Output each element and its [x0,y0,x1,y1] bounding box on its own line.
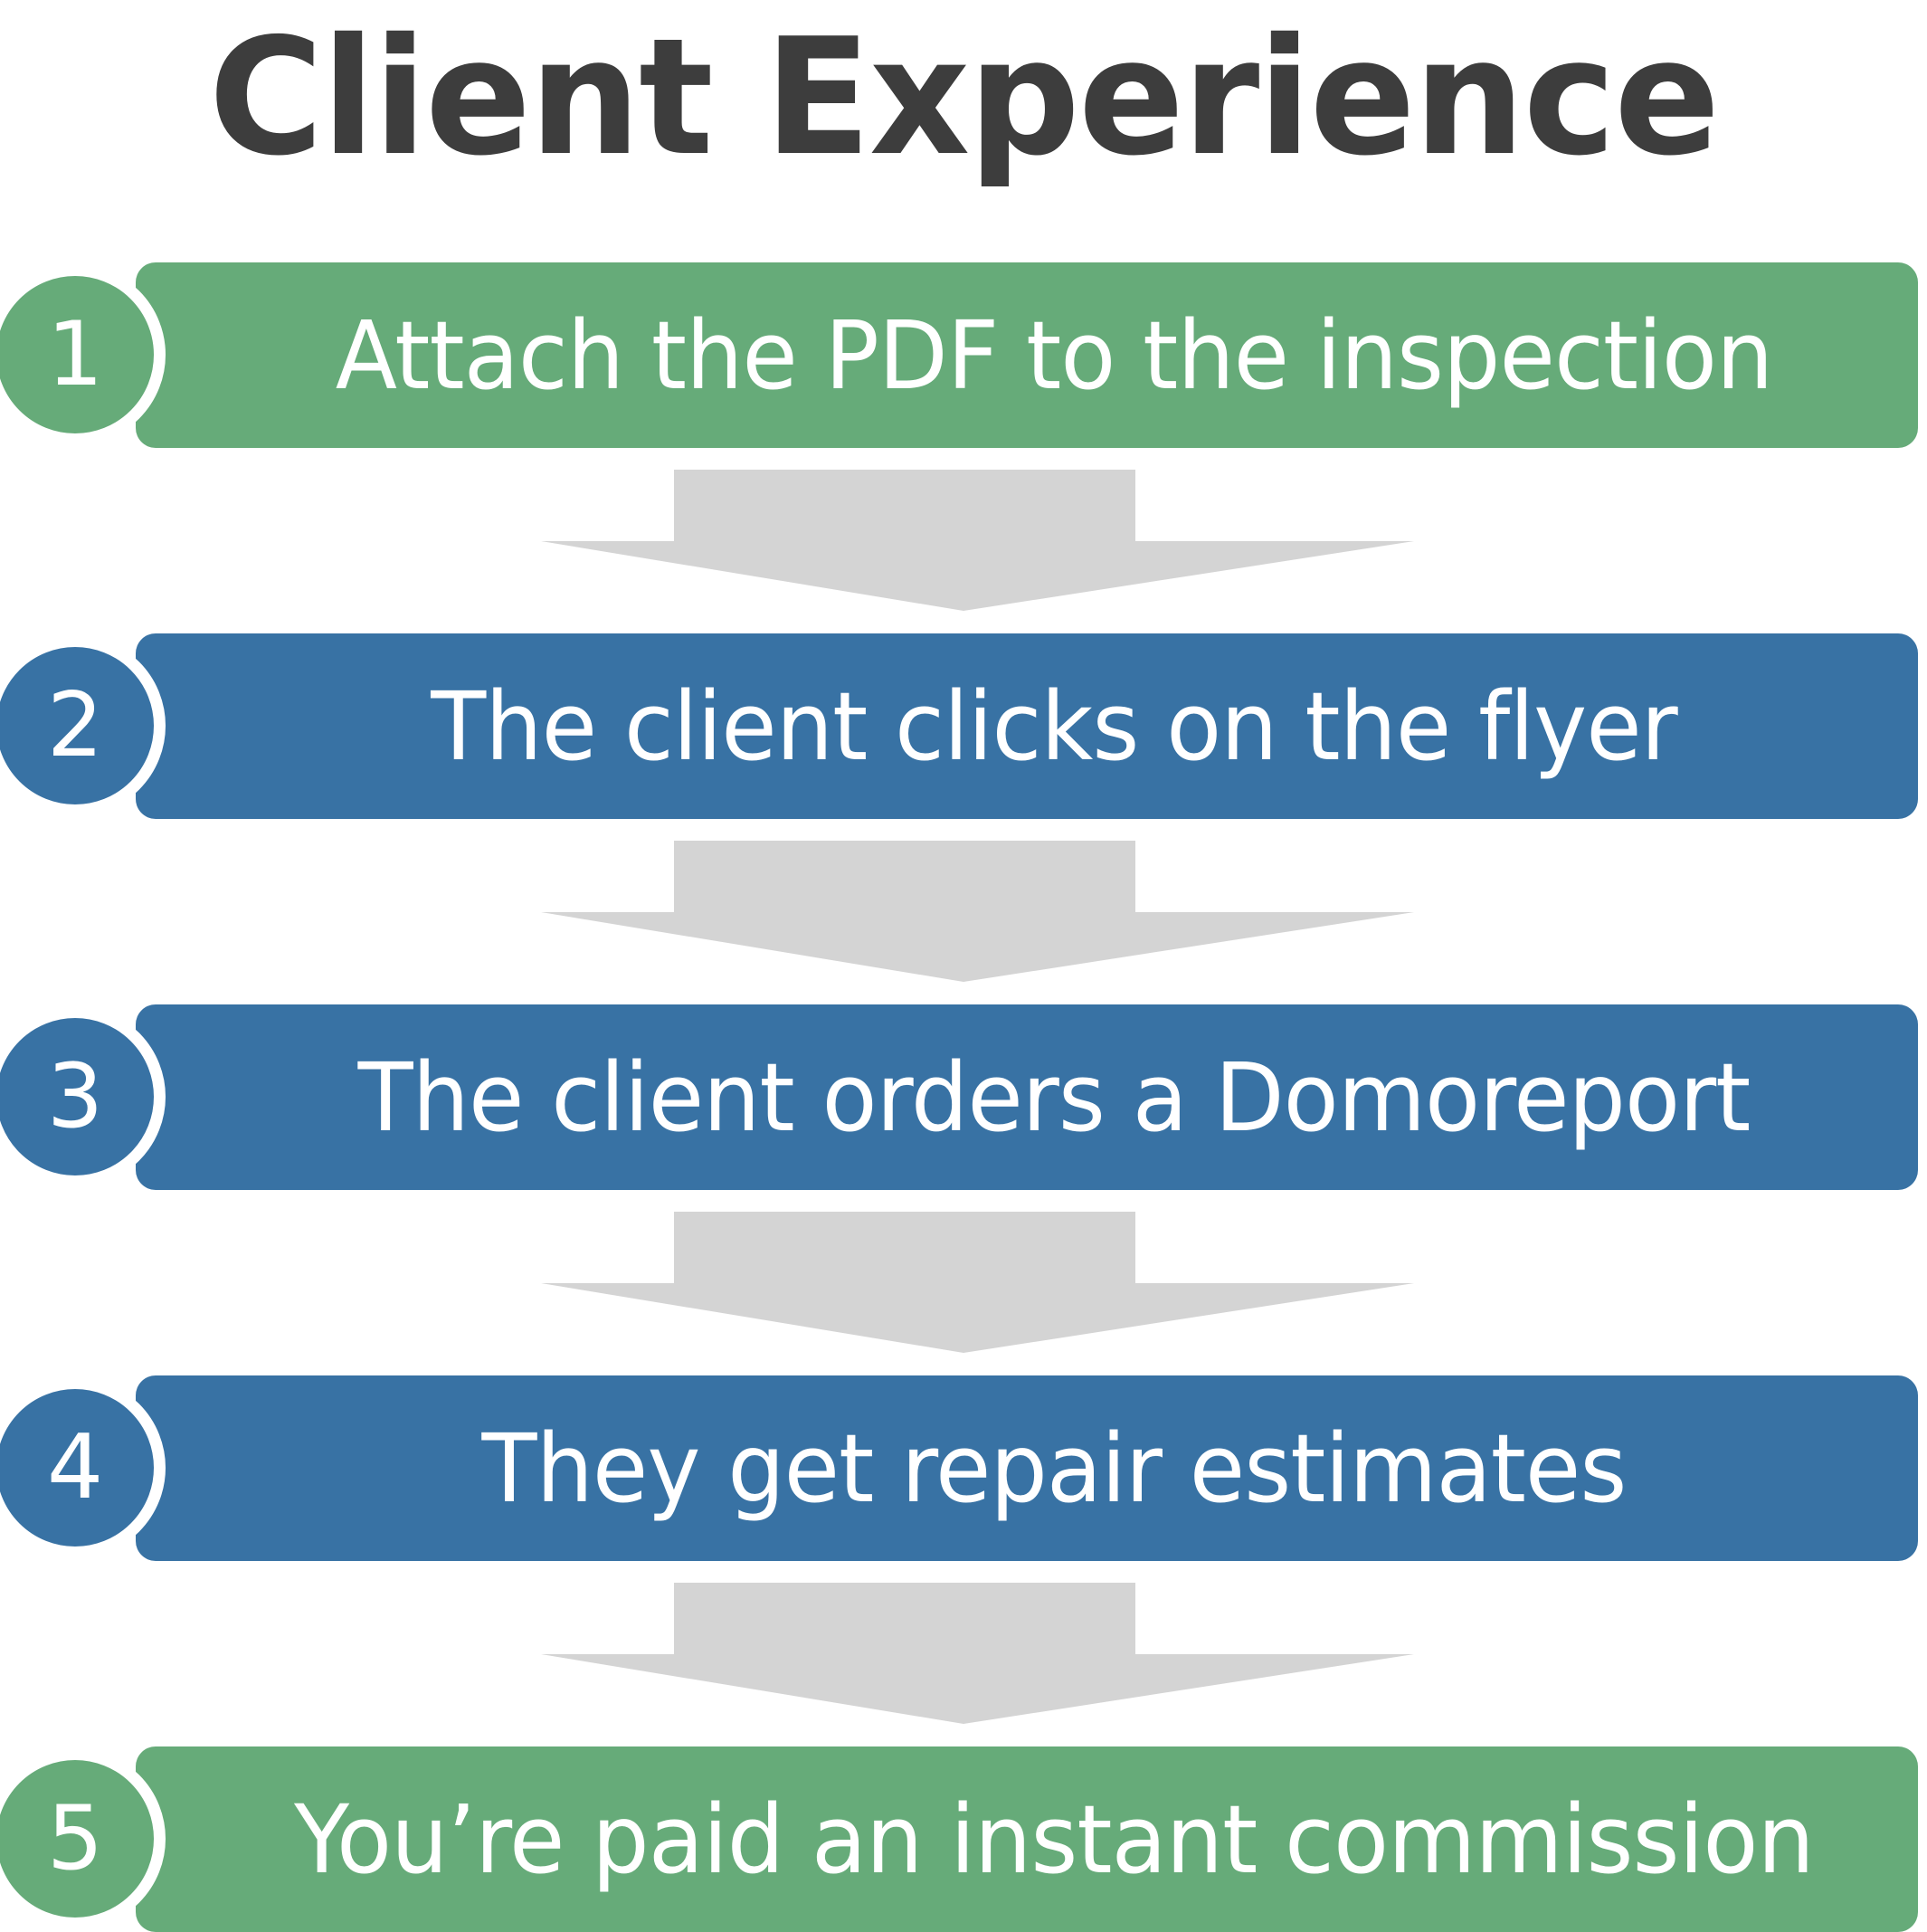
step-label-5: You’re paid an instant commission [224,1746,1884,1932]
flow-step-4: They get repair estimates 4 [0,1375,1927,1561]
flow-step-5: You’re paid an instant commission 5 [0,1746,1927,1932]
flow-step-2: The client clicks on the flyer 2 [0,633,1927,819]
step-label-2: The client clicks on the flyer [224,633,1884,819]
flowchart-canvas: Client Experience Attach the PDF to the … [0,0,1927,1927]
step-label-3: The client orders a Domoreport [224,1004,1884,1190]
flow-step-1: Attach the PDF to the inspection 1 [0,262,1927,448]
connector-arrow-2-3 [541,841,1414,982]
step-label-4: They get repair estimates [224,1375,1884,1561]
connector-arrow-4-5 [541,1583,1414,1724]
page-title: Client Experience [29,7,1898,188]
connector-arrow-3-4 [541,1212,1414,1353]
flow-step-3: The client orders a Domoreport 3 [0,1004,1927,1190]
connector-arrow-1-2 [541,470,1414,611]
step-label-1: Attach the PDF to the inspection [224,262,1884,448]
